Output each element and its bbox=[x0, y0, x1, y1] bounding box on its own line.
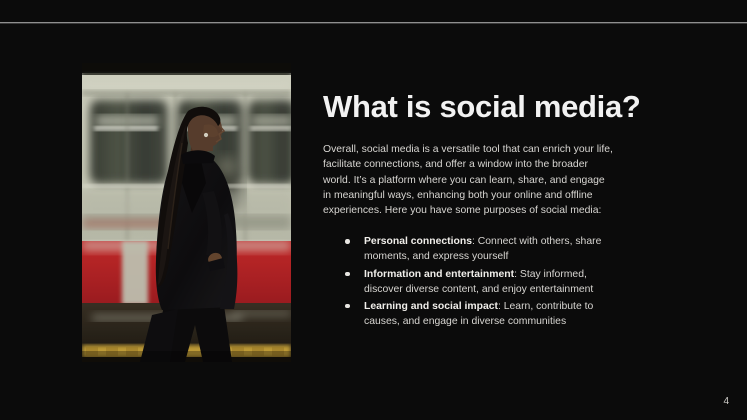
list-item-lead: Information and entertainment bbox=[364, 269, 514, 280]
list-item: Personal connections: Connect with other… bbox=[323, 234, 653, 264]
list-item-lead: Personal connections bbox=[364, 236, 472, 247]
page-title: What is social media? bbox=[323, 90, 668, 124]
list-item-text: : Learn, contribute to bbox=[498, 301, 593, 312]
list-item-first-line: Learning and social impact: Learn, contr… bbox=[364, 299, 653, 314]
bullet-dot-icon bbox=[345, 272, 350, 277]
list-item-second-line: moments, and express yourself bbox=[364, 249, 653, 264]
paragraph-line: Overall, social media is a versatile too… bbox=[323, 142, 663, 157]
paragraph-line: facilitate connections, and offer a wind… bbox=[323, 157, 663, 172]
paragraph-line: world. It’s a platform where you can lea… bbox=[323, 173, 663, 188]
list-item-text: : Stay informed, bbox=[514, 269, 587, 280]
slide: What is social media? Overall, social me… bbox=[0, 0, 747, 420]
list-item-second-line: discover diverse content, and enjoy ente… bbox=[364, 282, 653, 297]
intro-paragraph: Overall, social media is a versatile too… bbox=[323, 142, 663, 218]
list-item-first-line: Personal connections: Connect with other… bbox=[364, 234, 653, 249]
text-column: What is social media? Overall, social me… bbox=[323, 90, 668, 331]
page-number: 4 bbox=[723, 396, 729, 407]
bullet-dot-icon bbox=[345, 239, 350, 244]
paragraph-line: in meaningful ways, enhancing both your … bbox=[323, 188, 663, 203]
top-divider-rule-shadow bbox=[0, 23, 747, 24]
list-item-first-line: Information and entertainment: Stay info… bbox=[364, 267, 653, 282]
list-item: Information and entertainment: Stay info… bbox=[323, 267, 653, 297]
list-item-lead: Learning and social impact bbox=[364, 301, 498, 312]
bullet-dot-icon bbox=[345, 304, 350, 309]
list-item-text: : Connect with others, share bbox=[472, 236, 601, 247]
list-item-second-line: causes, and engage in diverse communitie… bbox=[364, 314, 653, 329]
list-item: Learning and social impact: Learn, contr… bbox=[323, 299, 653, 329]
purposes-list: Personal connections: Connect with other… bbox=[323, 234, 653, 329]
subway-photo bbox=[82, 63, 291, 362]
paragraph-line: experiences. Here you have some purposes… bbox=[323, 203, 663, 218]
subway-photo-illustration bbox=[82, 63, 291, 362]
